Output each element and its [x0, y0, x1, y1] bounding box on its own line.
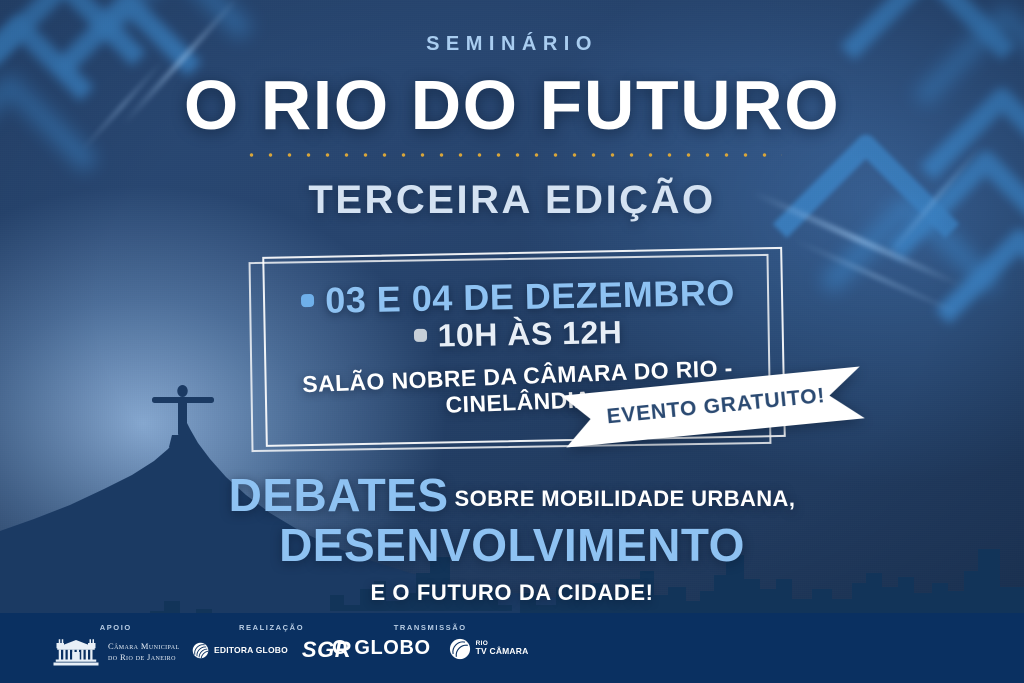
logo-editora-globo: EDITORA GLOBO — [192, 642, 288, 659]
logo-editora-globo-text: EDITORA GLOBO — [214, 645, 288, 655]
logo-rio-tv-camara: RIO TV CÂMARA — [449, 638, 529, 660]
credits-bar: APOIO — [0, 613, 1024, 683]
logo-rio-tv-camara-text: RIO TV CÂMARA — [476, 640, 529, 656]
classical-building-icon — [52, 637, 100, 667]
tv-camara-sphere-icon — [449, 638, 471, 660]
credit-group-apoio: APOIO — [52, 623, 180, 667]
page-title: O RIO DO FUTURO — [0, 70, 1024, 140]
globo-sphere-icon — [192, 642, 209, 659]
theme-mobility: SOBRE MOBILIDADE URBANA, — [455, 486, 796, 511]
credit-label-realizacao: REALIZAÇÃO — [239, 623, 304, 632]
edition-subtitle: TERCEIRA EDIÇÃO — [0, 178, 1024, 223]
credit-label-transmissao: TRANSMISSÃO — [394, 623, 467, 632]
themes-block: DEBATESSOBRE MOBILIDADE URBANA, DESENVOL… — [0, 468, 1024, 606]
theme-future-city: E O FUTURO DA CIDADE! — [0, 580, 1024, 606]
themes-row-1: DEBATESSOBRE MOBILIDADE URBANA, — [0, 468, 1024, 522]
credit-group-transmissao: TRANSMISSÃO O GLOBO RIO — [332, 623, 528, 660]
bullet-icon — [414, 329, 427, 342]
credit-group-realizacao: REALIZAÇÃO EDITORA GLOBO — [192, 623, 351, 663]
credit-label-apoio: APOIO — [100, 623, 132, 632]
logo-o-globo: O GLOBO — [332, 637, 431, 660]
event-poster: SEMINÁRIO O RIO DO FUTURO TERCEIRA EDIÇÃ… — [0, 0, 1024, 683]
event-time: 10H ÀS 12H — [437, 314, 622, 354]
dotted-divider — [242, 152, 782, 158]
theme-debates: DEBATES — [229, 469, 449, 521]
bullet-icon — [301, 294, 314, 307]
seminar-kicker: SEMINÁRIO — [0, 33, 1024, 56]
logo-camara-text: Câmara Municipal do Rio de Janeiro — [108, 641, 180, 664]
theme-development: DESENVOLVIMENTO — [0, 518, 1024, 572]
logo-camara-municipal: Câmara Municipal do Rio de Janeiro — [52, 637, 180, 667]
